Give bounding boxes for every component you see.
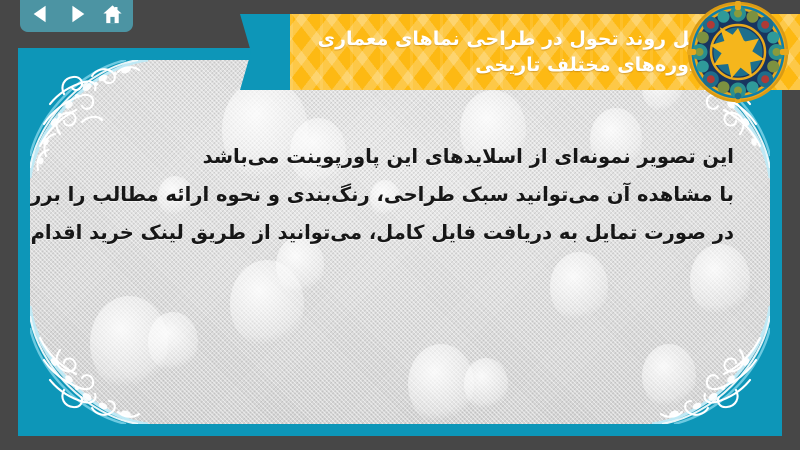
home-button[interactable] <box>100 2 126 26</box>
slide-title-line-1: تحلیل روند تحول در طراحی نماهای معماری <box>318 26 726 52</box>
body-line-1: این تصویر نمونه‌ای از اسلایدهای این پاور… <box>66 138 734 176</box>
body-line-2: با مشاهده آن می‌توانید سبک طراحی، رنگ‌بن… <box>66 176 734 214</box>
bokeh-light <box>690 244 750 316</box>
bokeh-light <box>550 252 608 322</box>
slide-content-area: این تصویر نمونه‌ای از اسلایدهای این پاور… <box>30 60 770 424</box>
bokeh-light <box>408 344 474 424</box>
slide-body-text: این تصویر نمونه‌ای از اسلایدهای این پاور… <box>66 138 734 252</box>
persian-star-medallion-icon <box>686 0 790 104</box>
body-line-3: در صورت تمایل به دریافت فایل کامل، می‌تو… <box>66 214 734 252</box>
bokeh-light <box>148 312 198 372</box>
bokeh-light <box>642 344 696 408</box>
bokeh-light <box>230 260 304 348</box>
previous-slide-button[interactable] <box>28 2 54 26</box>
bokeh-light <box>90 296 168 390</box>
bokeh-light <box>464 358 508 410</box>
presentation-slide: این تصویر نمونه‌ای از اسلایدهای این پاور… <box>18 48 782 436</box>
slide-viewer-nav-bar <box>20 0 133 32</box>
islimi-corner-ornament-icon <box>650 304 770 424</box>
islimi-corner-ornament-icon <box>30 304 150 424</box>
next-slide-button[interactable] <box>64 2 90 26</box>
banner-left-tab <box>240 14 290 90</box>
